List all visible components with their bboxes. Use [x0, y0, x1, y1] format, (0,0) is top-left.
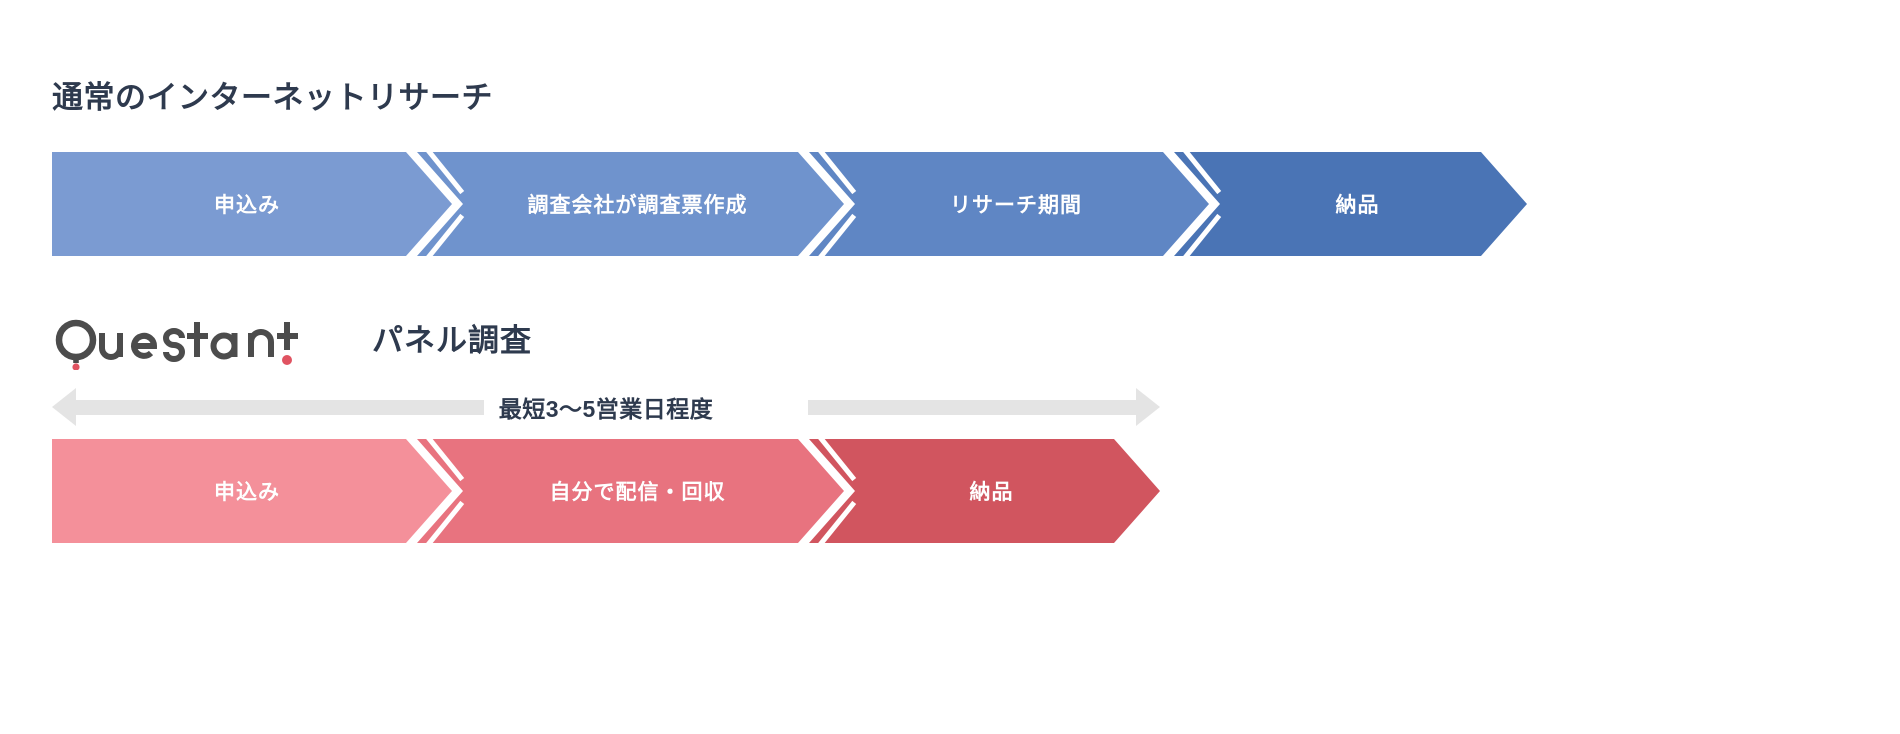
standard-flow-step-3: リサーチ期間: [809, 152, 1209, 256]
standard-research-flow: 申込み調査会社が調査票作成リサーチ期間納品: [52, 152, 1527, 256]
slide-canvas: 通常のインターネットリサーチ 申込み調査会社が調査票作成リサーチ期間納品: [0, 0, 1900, 734]
questant-logo: [52, 312, 302, 370]
questant-panel-title: パネル調査: [372, 315, 532, 360]
duration-label-wrap: 最短3〜5営業日程度: [52, 388, 1160, 426]
standard-research-title: 通常のインターネットリサーチ: [52, 72, 493, 117]
standard-flow-step-4: 納品: [1174, 152, 1527, 256]
standard-flow-step-2: 調査会社が調査票作成: [417, 152, 844, 256]
panel-flow-step-1-label: 申込み: [214, 476, 280, 506]
panel-flow-step-3: 納品: [809, 439, 1160, 543]
panel-flow-step-2: 自分で配信・回収: [417, 439, 844, 543]
duration-label: 最短3〜5営業日程度: [485, 390, 728, 424]
questant-panel-flow: 申込み自分で配信・回収納品: [52, 439, 1160, 543]
standard-flow-step-4-label: 納品: [1336, 189, 1380, 219]
standard-flow-step-3-label: リサーチ期間: [950, 189, 1082, 219]
standard-flow-step-1: 申込み: [52, 152, 452, 256]
panel-flow-step-3-label: 納品: [970, 476, 1014, 506]
standard-flow-step-2-label: 調査会社が調査票作成: [528, 189, 748, 219]
panel-flow-step-2-label: 自分で配信・回収: [550, 476, 726, 506]
duration-indicator: 最短3〜5営業日程度: [52, 388, 1160, 426]
standard-flow-step-1-label: 申込み: [214, 189, 280, 219]
panel-flow-step-1: 申込み: [52, 439, 452, 543]
